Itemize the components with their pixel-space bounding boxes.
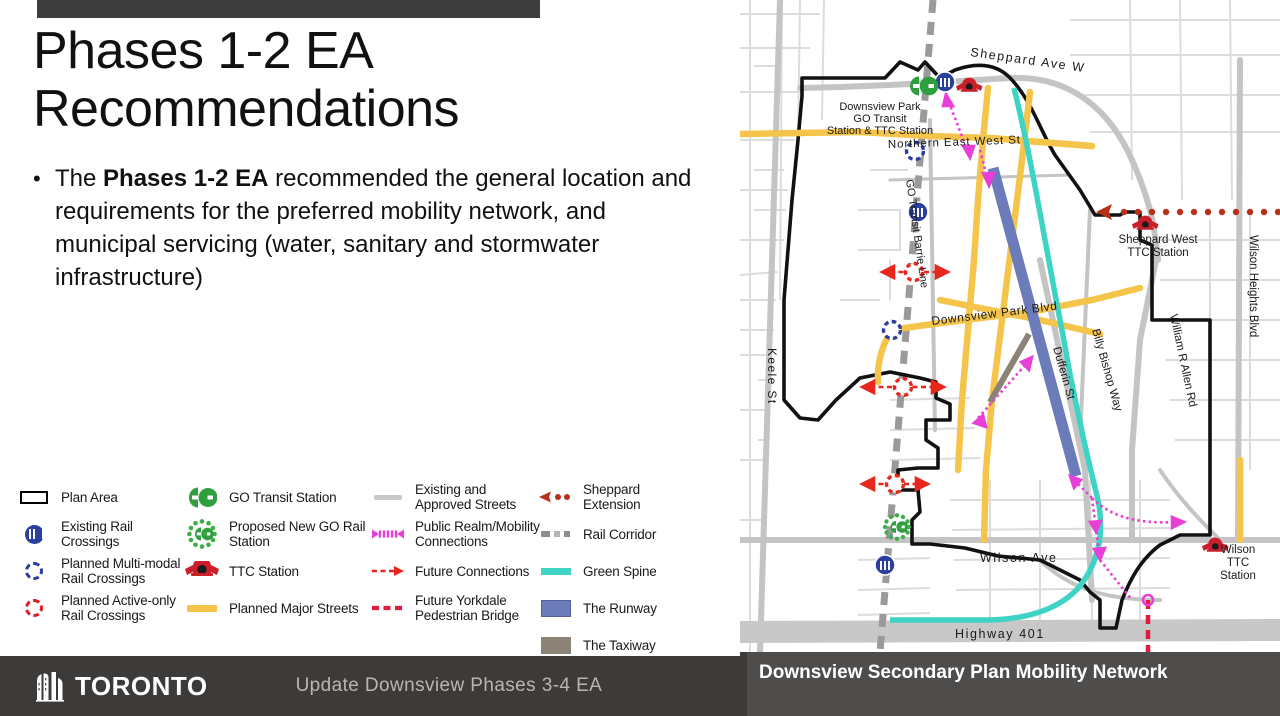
legend-item-existing-rail-crossings: Existing Rail Crossings bbox=[14, 519, 194, 549]
legend-column-4: Sheppard Extension Rail Corridor bbox=[536, 482, 696, 667]
planned-major-streets-icon bbox=[182, 594, 222, 622]
legend-label: Sheppard Extension bbox=[583, 482, 696, 512]
planned-multimodal-rail-crossing-icon bbox=[884, 322, 901, 339]
existing-approved-streets-icon bbox=[368, 483, 408, 511]
legend-item-future-yorkdale-pedestrian-bridge: Future Yorkdale Pedestrian Bridge bbox=[368, 593, 540, 623]
legend-item-future-connections: Future Connections bbox=[368, 556, 540, 586]
legend-label: TTC Station bbox=[229, 564, 372, 579]
map-caption: Downsview Secondary Plan Mobility Networ… bbox=[747, 652, 1280, 716]
legend-label: Rail Corridor bbox=[583, 527, 696, 542]
legend-item-planned-active-only-rail-crossings: Planned Active-only Rail Crossings bbox=[14, 593, 194, 623]
label-downsview-park-go-line2: GO Transit bbox=[853, 113, 906, 125]
planned-active-only-rail-crossing-icon bbox=[895, 379, 912, 396]
legend-label: Future Connections bbox=[415, 564, 540, 579]
bullet-prefix: The bbox=[55, 165, 103, 192]
label-wilson-heights-blvd: Wilson Heights Blvd bbox=[1247, 235, 1259, 337]
label-sheppard-west-ttc-line1: Sheppard West bbox=[1118, 234, 1198, 246]
bullet-marker: • bbox=[33, 162, 55, 195]
slide-root: Phases 1-2 EARecommendations • The Phase… bbox=[0, 0, 1280, 716]
legend-item-go-transit-station: GO Transit Station bbox=[182, 482, 372, 512]
label-highway-401: Highway 401 bbox=[955, 627, 1045, 641]
go-transit-station-icon bbox=[182, 483, 222, 511]
footer-bar: TORONTO Update Downsview Phases 3-4 EA bbox=[0, 656, 740, 716]
legend-label: GO Transit Station bbox=[229, 490, 372, 505]
label-downsview-park-go-line3: Station & TTC Station bbox=[827, 125, 933, 137]
go-transit-station-icon bbox=[910, 77, 938, 96]
toronto-wordmark: TORONTO bbox=[75, 673, 208, 699]
legend-column-1: Plan Area Existing Rail Crossings Planne… bbox=[14, 482, 194, 630]
label-keele-st: Keele St bbox=[765, 348, 779, 405]
page-title: Phases 1-2 EARecommendations bbox=[33, 22, 633, 138]
page-title-line-1: Phases 1-2 EA bbox=[33, 22, 373, 80]
page-title-line-2: Recommendations bbox=[33, 80, 459, 138]
legend-column-2: GO Transit Station bbox=[182, 482, 372, 630]
bullet-list: • The Phases 1-2 EA recommended the gene… bbox=[33, 162, 713, 294]
planned-active-only-rail-crossing-icon bbox=[887, 476, 904, 493]
label-sheppard-west-ttc-line2: TTC Station bbox=[1127, 247, 1188, 259]
legend-label: Green Spine bbox=[583, 564, 696, 579]
legend-label: Planned Major Streets bbox=[229, 601, 372, 616]
legend-item-public-realm-mobility-connections: Public Realm/Mobility Connections bbox=[368, 519, 540, 549]
title-accent-bar bbox=[37, 0, 540, 18]
label-downsview-park-go-line1: Downsview Park bbox=[839, 101, 921, 113]
left-content-panel: Phases 1-2 EARecommendations • The Phase… bbox=[0, 0, 740, 656]
legend-label: Future Yorkdale Pedestrian Bridge bbox=[415, 593, 540, 623]
bullet-text: The Phases 1-2 EA recommended the genera… bbox=[55, 162, 713, 294]
planned-multimodal-rail-crossing-icon bbox=[14, 557, 54, 585]
ttc-station-icon bbox=[182, 557, 222, 585]
label-wilson-ttc-line3: Station bbox=[1220, 570, 1256, 582]
legend-label: The Taxiway bbox=[583, 638, 696, 653]
legend-label: Existing and Approved Streets bbox=[415, 482, 540, 512]
legend-item-ttc-station: TTC Station bbox=[182, 556, 372, 586]
label-wilson-ave: Wilson Ave bbox=[980, 551, 1058, 565]
legend-column-3: Existing and Approved Streets bbox=[368, 482, 540, 630]
legend-label: The Runway bbox=[583, 601, 696, 616]
legend-label: Planned Active-only Rail Crossings bbox=[61, 593, 194, 623]
the-runway-icon bbox=[536, 594, 576, 622]
existing-rail-crossing-icon bbox=[935, 72, 955, 92]
existing-rail-crossing-icon bbox=[14, 520, 54, 548]
toronto-city-hall-logo-icon: TORONTO bbox=[35, 670, 208, 702]
legend-label: Existing Rail Crossings bbox=[61, 519, 194, 549]
legend-item-rail-corridor: Rail Corridor bbox=[536, 519, 696, 549]
label-wilson-ttc-line1: Wilson bbox=[1221, 544, 1256, 556]
map-legend: Plan Area Existing Rail Crossings Planne… bbox=[0, 482, 740, 654]
legend-label: Public Realm/Mobility Connections bbox=[415, 519, 540, 549]
green-spine-icon bbox=[536, 557, 576, 585]
legend-item-existing-approved-streets: Existing and Approved Streets bbox=[368, 482, 540, 512]
the-taxiway-icon bbox=[536, 631, 576, 659]
legend-item-plan-area: Plan Area bbox=[14, 482, 194, 512]
list-item: • The Phases 1-2 EA recommended the gene… bbox=[33, 162, 713, 294]
legend-label: Planned Multi-modal Rail Crossings bbox=[61, 556, 194, 586]
footer-subtitle: Update Downsview Phases 3-4 EA bbox=[296, 675, 603, 697]
mobility-network-map[interactable]: Sheppard Ave W Downsview Park GO Transit… bbox=[740, 0, 1280, 652]
legend-item-planned-major-streets: Planned Major Streets bbox=[182, 593, 372, 623]
legend-item-planned-multimodal-rail-crossings: Planned Multi-modal Rail Crossings bbox=[14, 556, 194, 586]
legend-label: Proposed New GO Rail Station bbox=[229, 519, 372, 549]
bullet-bold-phrase: Phases 1-2 EA bbox=[103, 165, 268, 192]
public-realm-mobility-connections-icon bbox=[368, 520, 408, 548]
future-connections-icon bbox=[368, 557, 408, 585]
future-yorkdale-pedestrian-bridge-icon bbox=[368, 594, 408, 622]
label-wilson-ttc-line2: TTC bbox=[1227, 557, 1249, 569]
proposed-new-go-rail-station-icon bbox=[182, 520, 222, 548]
rail-corridor-icon bbox=[536, 520, 576, 548]
planned-active-only-rail-crossing-icon bbox=[14, 594, 54, 622]
legend-item-proposed-new-go-rail-station: Proposed New GO Rail Station bbox=[182, 519, 372, 549]
legend-item-green-spine: Green Spine bbox=[536, 556, 696, 586]
legend-item-the-runway: The Runway bbox=[536, 593, 696, 623]
legend-item-sheppard-extension: Sheppard Extension bbox=[536, 482, 696, 512]
existing-rail-crossing-icon bbox=[875, 555, 895, 575]
legend-label: Plan Area bbox=[61, 490, 194, 505]
sheppard-extension-icon bbox=[536, 483, 576, 511]
plan-area-rect-icon bbox=[14, 483, 54, 511]
map-svg[interactable]: Sheppard Ave W Downsview Park GO Transit… bbox=[740, 0, 1280, 652]
